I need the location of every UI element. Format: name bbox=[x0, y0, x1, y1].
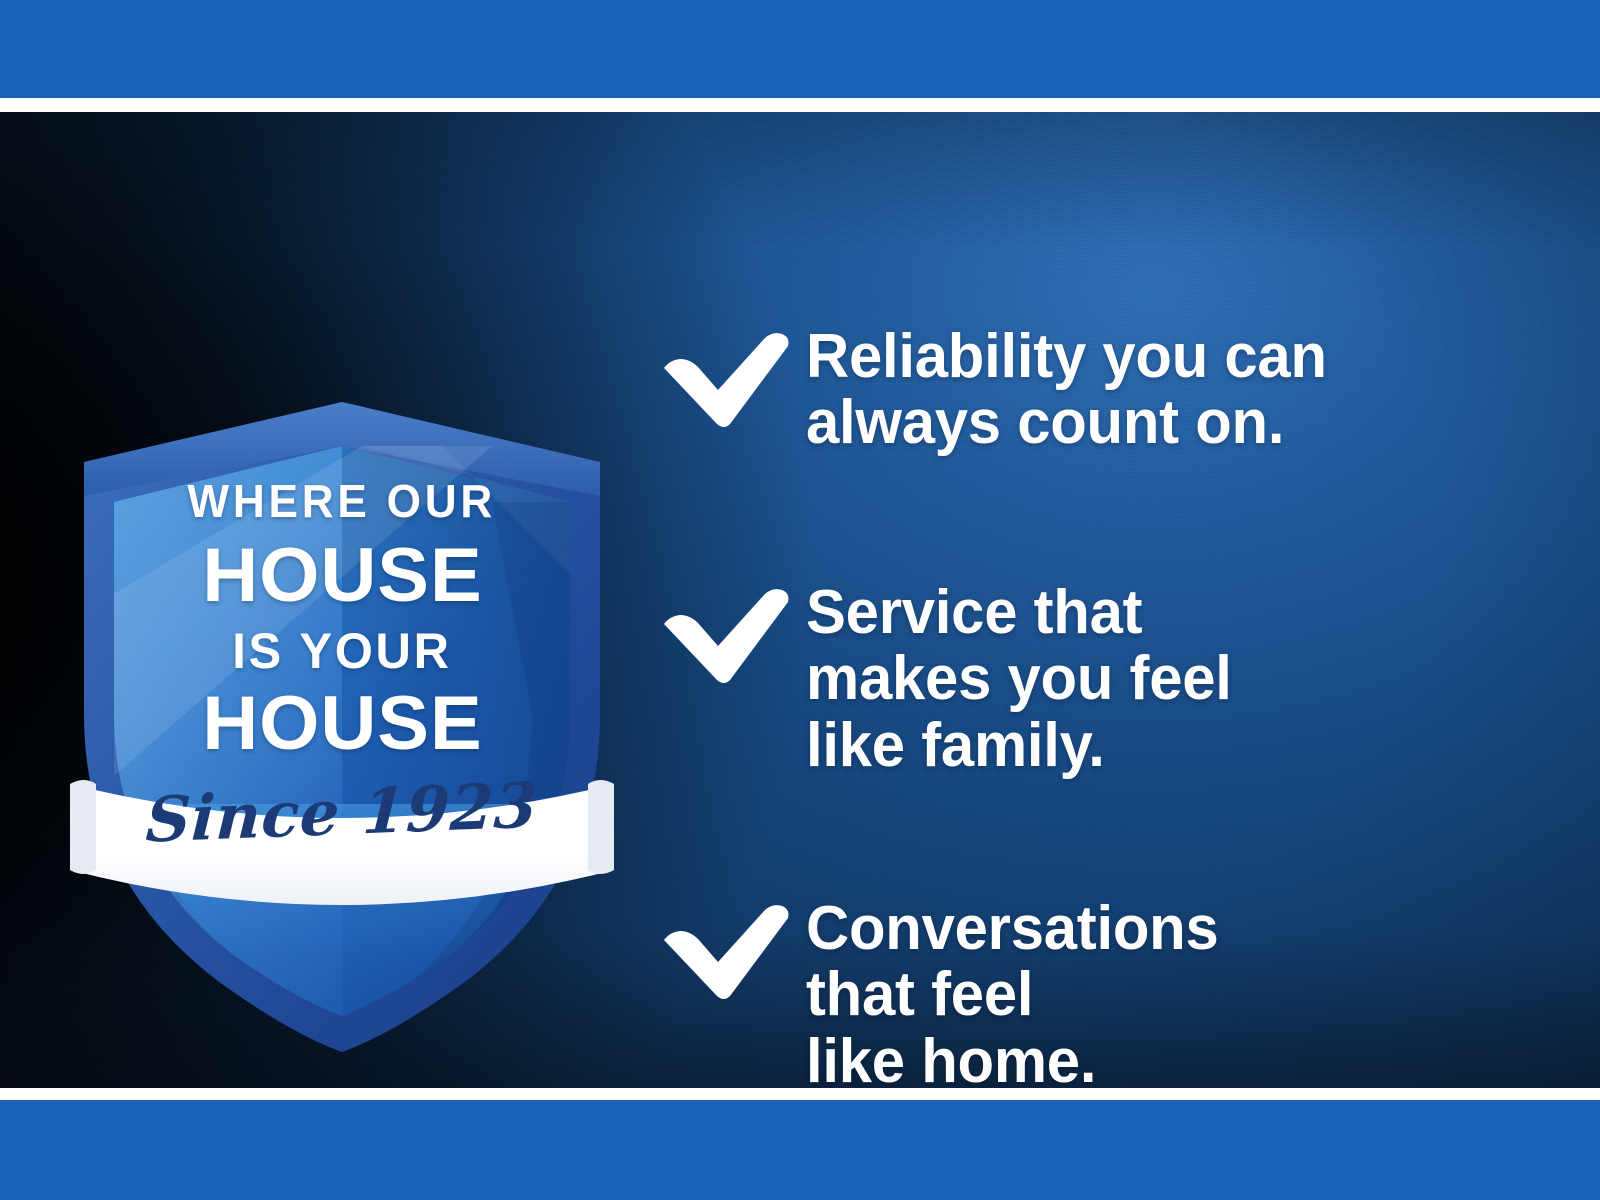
top-brand-bar bbox=[0, 0, 1600, 98]
top-white-divider bbox=[0, 98, 1600, 112]
benefit-item-3: Conversations that feel like home. bbox=[660, 896, 1233, 1088]
benefit-item-2: Service that makes you feel like family. bbox=[660, 580, 1247, 779]
bottom-brand-bar bbox=[0, 1100, 1600, 1200]
ribbon-fold-left bbox=[70, 780, 96, 874]
promo-graphic: Where Our House Is Your House Since 1923… bbox=[0, 0, 1600, 1200]
check-icon-glyph bbox=[660, 588, 792, 684]
benefit-text-3: Conversations that feel like home. bbox=[806, 896, 1218, 1088]
benefit-item-1: Reliability you can always count on. bbox=[660, 324, 1346, 457]
check-icon bbox=[660, 580, 806, 684]
benefits-list: Reliability you can always count on. Ser… bbox=[660, 224, 1600, 1088]
benefit-text-2: Service that makes you feel like family. bbox=[806, 580, 1232, 779]
ribbon-fold-right bbox=[588, 780, 614, 874]
shield-badge: Where Our House Is Your House Since 1923 bbox=[62, 384, 622, 1064]
check-icon-glyph bbox=[660, 904, 792, 1000]
main-panel: Where Our House Is Your House Since 1923… bbox=[0, 112, 1600, 1088]
benefit-text-1: Reliability you can always count on. bbox=[806, 324, 1327, 457]
check-icon bbox=[660, 324, 806, 428]
shield-artwork bbox=[62, 384, 622, 1064]
check-icon-glyph bbox=[660, 332, 792, 428]
bottom-white-divider bbox=[0, 1088, 1600, 1100]
check-icon bbox=[660, 896, 806, 1000]
